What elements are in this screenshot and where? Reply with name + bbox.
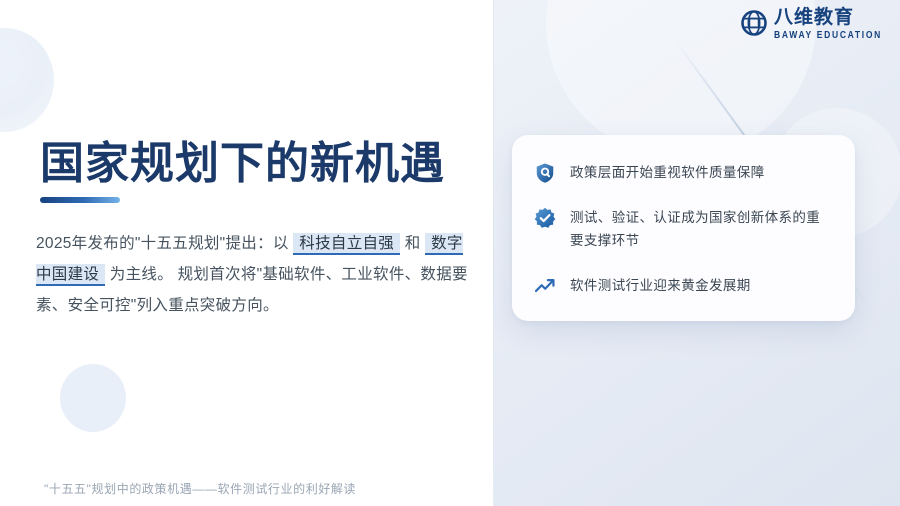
- shield-search-icon: [534, 162, 556, 184]
- trending-up-icon: [534, 275, 556, 297]
- brand-logo-text: 八维教育 BAWAY EDUCATION: [774, 8, 882, 39]
- body-segment-2: 和: [400, 235, 425, 252]
- left-content-panel: 国家规划下的新机遇 2025年发布的"十五五规划"提出：以 科技自立自强 和 数…: [0, 0, 494, 506]
- brand-name-en: BAWAY EDUCATION: [774, 30, 882, 40]
- list-item-label: 软件测试行业迎来黄金发展期: [570, 274, 751, 297]
- headline-block: 国家规划下的新机遇: [40, 140, 470, 203]
- decorative-circle-top-left: [0, 28, 54, 132]
- verified-badge-icon: [534, 207, 556, 229]
- body-segment-1: 2025年发布的"十五五规划"提出：以: [36, 235, 293, 252]
- page-title: 国家规划下的新机遇: [40, 140, 470, 188]
- list-item-label: 政策层面开始重视软件质量保障: [570, 161, 765, 184]
- highlight-keyword-1: 科技自立自强: [293, 233, 400, 255]
- slide-root: 国家规划下的新机遇 2025年发布的"十五五规划"提出：以 科技自立自强 和 数…: [0, 0, 900, 506]
- body-paragraph: 2025年发布的"十五五规划"提出：以 科技自立自强 和 数字中国建设 为主线。…: [36, 228, 472, 321]
- list-item-label: 测试、验证、认证成为国家创新体系的重要支撑环节: [570, 206, 833, 252]
- brand-name-cn: 八维教育: [774, 8, 882, 27]
- right-visual-panel: 八维教育 BAWAY EDUCATION 政策层: [494, 0, 900, 506]
- footer-note: "十五五"规划中的政策机遇——软件测试行业的利好解读: [44, 480, 356, 497]
- list-item: 测试、验证、认证成为国家创新体系的重要支撑环节: [534, 206, 833, 252]
- globe-grid-icon: [740, 9, 768, 37]
- decorative-circle-bottom-left: [60, 364, 126, 432]
- brand-logo: 八维教育 BAWAY EDUCATION: [740, 8, 882, 39]
- title-underline-accent: [40, 197, 120, 203]
- key-points-card: 政策层面开始重视软件质量保障 测试、验证、认证成为国家创新体系的重要支撑环节: [512, 135, 855, 321]
- list-item: 软件测试行业迎来黄金发展期: [534, 274, 833, 297]
- list-item: 政策层面开始重视软件质量保障: [534, 161, 833, 184]
